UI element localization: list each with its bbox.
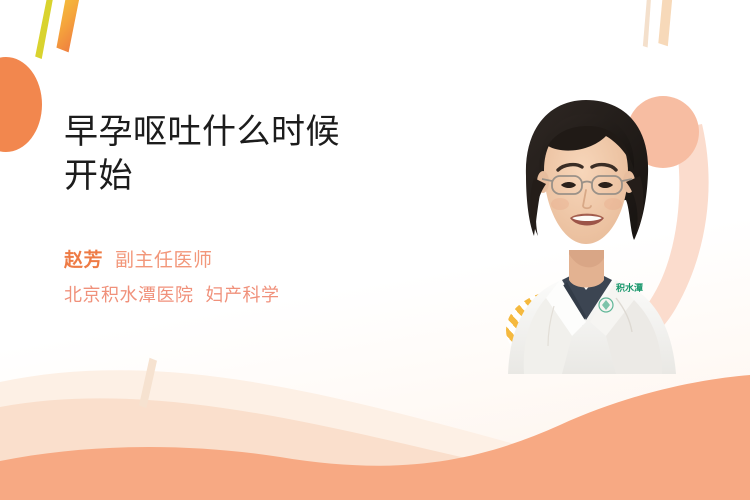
doctor-department: 妇产科学 [206,285,280,305]
doctor-rank: 副主任医师 [115,250,213,271]
doctor-name-line: 赵芳副主任医师 [64,246,424,276]
card-text-block: 早孕呕吐什么时候 开始 赵芳副主任医师 北京积水潭医院妇产科学 [64,110,424,310]
doctor-name: 赵芳 [64,250,103,271]
doctor-article-card: 积水潭 早孕呕吐什么时候 开始 赵芳副主任医师 北京积水潭医院妇产科学 [0,0,750,500]
page-title: 早孕呕吐什么时候 开始 [64,110,424,198]
doctor-hospital-line: 北京积水潭医院妇产科学 [64,280,424,310]
doctor-credit: 赵芳副主任医师 北京积水潭医院妇产科学 [64,246,424,310]
doctor-hospital: 北京积水潭医院 [64,285,194,305]
